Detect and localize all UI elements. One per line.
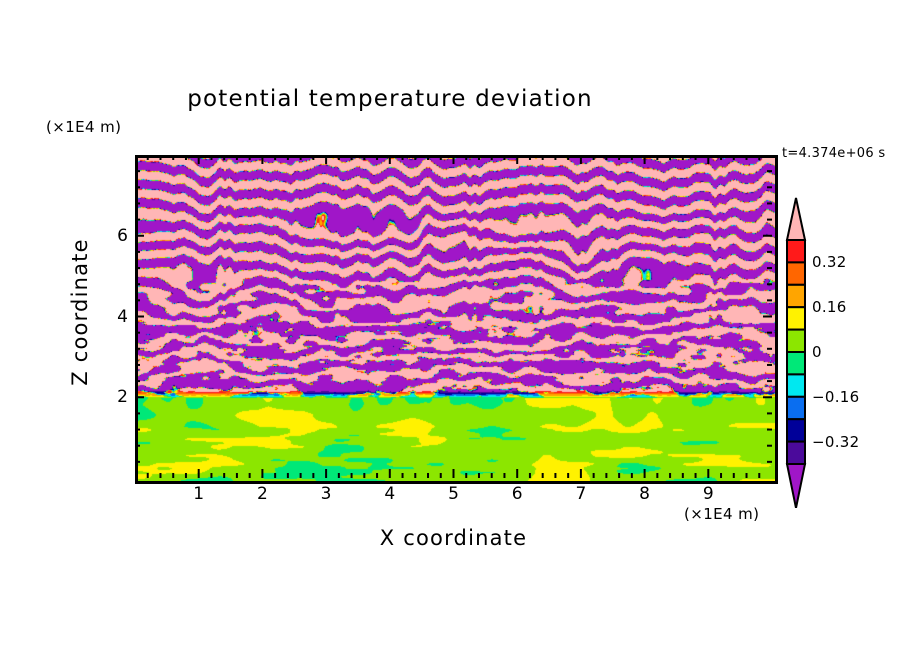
y-tick-label: 2 (117, 387, 128, 407)
x-tick-label: 2 (257, 484, 268, 504)
contour-plot-area[interactable] (135, 155, 778, 484)
x-tick-label: 5 (448, 484, 459, 504)
colorbar-tick-label: 0 (812, 343, 822, 361)
x-tick-label: 4 (384, 484, 395, 504)
contour-field-canvas (138, 158, 775, 481)
colorbar-tick-label: 0.32 (812, 253, 847, 271)
y-tick-label: 4 (117, 307, 128, 327)
colorbar[interactable] (783, 196, 809, 508)
x-tick-label: 7 (575, 484, 586, 504)
y-tick-label: 6 (117, 226, 128, 246)
x-tick-label: 9 (703, 484, 714, 504)
x-tick-label: 3 (321, 484, 332, 504)
colorbar-tick-label: −0.16 (812, 388, 859, 406)
timestamp-label: t=4.374e+06 s (782, 146, 885, 161)
x-tick-label: 8 (639, 484, 650, 504)
x-axis-unit-label: (×1E4 m) (684, 505, 759, 523)
colorbar-tick-label: 0.16 (812, 298, 847, 316)
x-tick-label: 6 (512, 484, 523, 504)
colorbar-tick-label: −0.32 (812, 433, 859, 451)
y-axis-title: Z coordinate (68, 212, 92, 412)
x-tick-label: 1 (193, 484, 204, 504)
x-axis-title: X coordinate (135, 526, 772, 550)
y-axis-unit-label: (×1E4 m) (46, 118, 121, 136)
page-title: potential temperature deviation (0, 86, 780, 112)
